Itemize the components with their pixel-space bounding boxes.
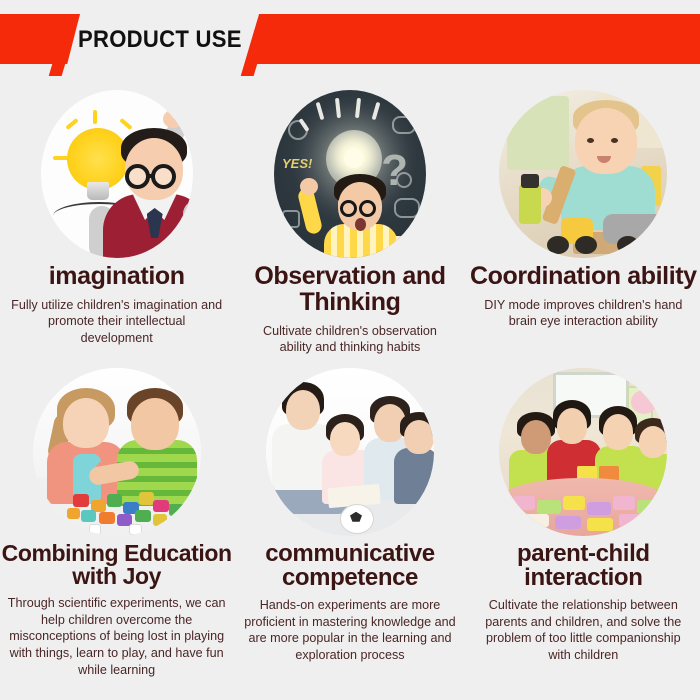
feature-description: Cultivate children's observation ability… — [250, 323, 450, 356]
feature-description: Cultivate the relationship between paren… — [475, 597, 691, 663]
feature-card-imagination: imagination Fully utilize children's ima… — [0, 78, 233, 356]
feature-description: Through scientific experiments, we can h… — [8, 595, 226, 678]
feature-description: DIY mode improves children's hand brain … — [481, 297, 685, 330]
lightbulb-icon — [67, 128, 129, 190]
image-boy-with-lightbulb — [41, 90, 193, 258]
feature-description: Hands-on experiments are more proficient… — [241, 597, 459, 663]
feature-title: communicative competence — [233, 542, 466, 591]
feature-row-top: imagination Fully utilize children's ima… — [0, 78, 700, 356]
feature-title: Coordination ability — [470, 264, 697, 290]
feature-row-bottom: Combining Education with Joy Through sci… — [0, 368, 700, 678]
feature-title: Observation and Thinking — [233, 264, 466, 316]
page-title: PRODUCT USE — [78, 26, 242, 54]
feature-card-combining-education-with-joy: Combining Education with Joy Through sci… — [0, 368, 233, 678]
feature-card-coordination-ability: Coordination ability DIY mode improves c… — [467, 78, 700, 356]
image-toddler-wooden-toys — [499, 90, 667, 258]
feature-title: imagination — [49, 264, 185, 290]
chalk-text-yes: YES! — [282, 156, 312, 171]
feature-title: Combining Education with Joy — [0, 542, 233, 589]
feature-description: Fully utilize children's imagination and… — [11, 297, 223, 347]
feature-grid: imagination Fully utilize children's ima… — [0, 78, 700, 678]
image-children-with-blocks — [33, 368, 201, 536]
feature-card-observation-and-thinking: ? YES! Observation and Thinking Cultivat… — [233, 78, 466, 356]
page-header-banner: PRODUCT USE — [0, 0, 700, 78]
image-family-reading — [266, 368, 434, 536]
feature-title: parent-child interaction — [467, 542, 700, 591]
banner-shape-right — [250, 14, 700, 64]
feature-card-parent-child-interaction: parent-child interaction Cultivate the r… — [467, 368, 700, 678]
image-parents-children-craft-table — [499, 368, 667, 536]
image-boy-at-chalkboard: ? YES! — [274, 90, 426, 258]
feature-card-communicative-competence: communicative competence Hands-on experi… — [233, 368, 466, 678]
